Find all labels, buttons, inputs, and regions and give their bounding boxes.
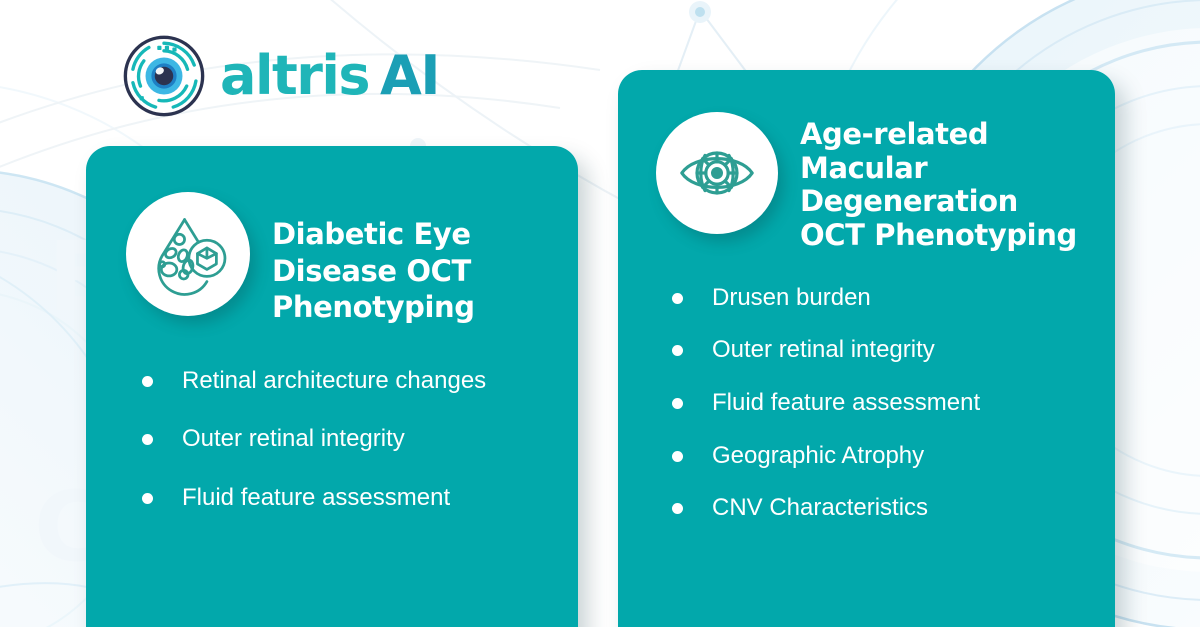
- list-item-label: Outer retinal integrity: [712, 335, 935, 366]
- card-title-line: OCT Phenotyping: [800, 219, 1077, 253]
- list-item-label: Fluid feature assessment: [182, 483, 450, 514]
- eye-target-iris-icon: [677, 133, 757, 213]
- card-title-line: Disease OCT: [272, 253, 475, 290]
- card-title-line: Phenotyping: [272, 289, 475, 326]
- list-item[interactable]: CNV Characteristics: [672, 493, 1091, 524]
- bullet-dot-icon: [672, 398, 683, 409]
- card-header: Age-related Macular Degeneration OCT Phe…: [618, 70, 1115, 253]
- bullet-dot-icon: [142, 434, 153, 445]
- list-item[interactable]: Fluid feature assessment: [142, 483, 550, 514]
- card-header: Diabetic Eye Disease OCT Phenotyping: [86, 146, 578, 326]
- list-item-label: Geographic Atrophy: [712, 441, 924, 472]
- icon-bubble: [126, 192, 250, 316]
- card-title: Diabetic Eye Disease OCT Phenotyping: [272, 192, 475, 326]
- list-item-label: Outer retinal integrity: [182, 424, 405, 455]
- card-title-line: Diabetic Eye: [272, 216, 475, 253]
- list-item[interactable]: Outer retinal integrity: [142, 424, 550, 455]
- list-item[interactable]: Fluid feature assessment: [672, 388, 1091, 419]
- bullet-dot-icon: [142, 493, 153, 504]
- list-item[interactable]: Retinal architecture changes: [142, 366, 550, 397]
- eye-iris-logo-icon: [122, 34, 206, 118]
- list-item-label: CNV Characteristics: [712, 493, 928, 524]
- card-diabetic-eye-disease[interactable]: Diabetic Eye Disease OCT Phenotyping Ret…: [86, 146, 578, 627]
- bullet-dot-icon: [672, 293, 683, 304]
- brand-name-secondary: AI: [380, 49, 439, 103]
- list-item[interactable]: Outer retinal integrity: [672, 335, 1091, 366]
- card-title-line: Degeneration: [800, 185, 1077, 219]
- bullet-dot-icon: [672, 503, 683, 514]
- bullet-dot-icon: [672, 451, 683, 462]
- feature-list: Retinal architecture changes Outer retin…: [86, 326, 578, 514]
- bullet-dot-icon: [672, 345, 683, 356]
- brand-logo[interactable]: altris AI: [122, 32, 439, 120]
- card-title-line: Age-related: [800, 118, 1077, 152]
- list-item[interactable]: Geographic Atrophy: [672, 441, 1091, 472]
- icon-bubble: [656, 112, 778, 234]
- list-item-label: Retinal architecture changes: [182, 366, 486, 397]
- list-item[interactable]: Drusen burden: [672, 283, 1091, 314]
- card-title-line: Macular: [800, 152, 1077, 186]
- feature-list: Drusen burden Outer retinal integrity Fl…: [618, 253, 1115, 525]
- bullet-dot-icon: [142, 376, 153, 387]
- fluid-droplet-cells-icon: [145, 211, 231, 297]
- brand-wordmark: altris AI: [220, 49, 439, 103]
- card-title: Age-related Macular Degeneration OCT Phe…: [800, 112, 1077, 253]
- poster-canvas: E C: [0, 0, 1200, 627]
- list-item-label: Fluid feature assessment: [712, 388, 980, 419]
- card-age-related-macular-degeneration[interactable]: Age-related Macular Degeneration OCT Phe…: [618, 70, 1115, 627]
- list-item-label: Drusen burden: [712, 283, 871, 314]
- brand-name-primary: altris: [220, 49, 369, 103]
